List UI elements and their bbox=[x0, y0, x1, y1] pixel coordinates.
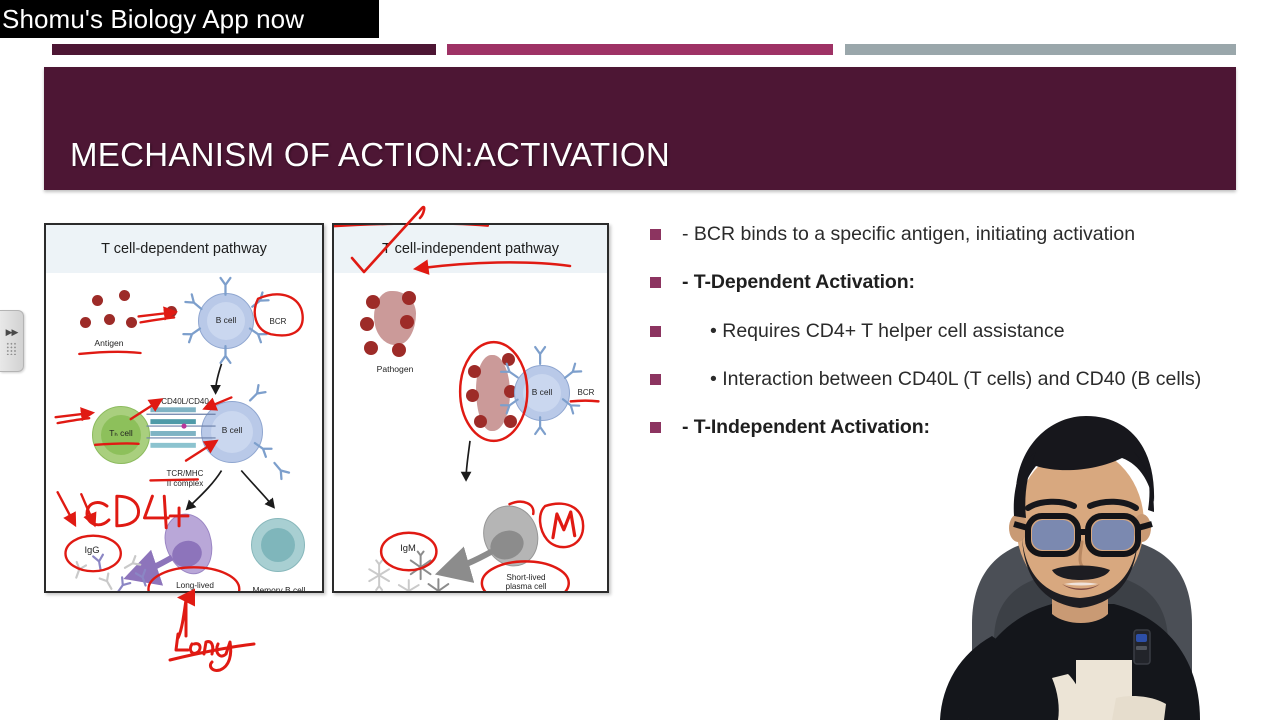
antigen-dot bbox=[104, 314, 115, 325]
antigen-dot bbox=[119, 290, 130, 301]
slide-title-banner: MECHANISM OF ACTION:ACTIVATION bbox=[44, 67, 1236, 190]
figure-left-body: Antigen B cell BCR Tₕ cell B cell CD40L/… bbox=[46, 273, 322, 591]
pathogen-bound-epitope bbox=[504, 415, 517, 428]
presenter-illustration bbox=[876, 392, 1280, 720]
decor-bar-2 bbox=[447, 44, 833, 55]
decor-bar-1 bbox=[52, 44, 436, 55]
bullet-item-1: - BCR binds to a specific antigen, initi… bbox=[648, 220, 1223, 248]
antigen-dot bbox=[126, 317, 137, 328]
th-cell-label: Tₕ cell bbox=[98, 429, 144, 439]
bullet-item-4: • Interaction between CD40L (T cells) an… bbox=[648, 365, 1223, 393]
presenter-video-cutout bbox=[876, 392, 1280, 720]
pathogen-epitope bbox=[400, 315, 414, 329]
figure-right-header: T cell-independent pathway bbox=[334, 225, 607, 273]
decor-bar-3 bbox=[845, 44, 1236, 55]
pathogen-bound-epitope bbox=[466, 389, 479, 402]
pathogen-epitope bbox=[392, 343, 406, 357]
tcr-mhc-label-line1: TCR/MHC bbox=[150, 469, 220, 478]
short-lived-line1: Short-lived bbox=[506, 573, 545, 582]
b-cell-right-label: B cell bbox=[522, 388, 562, 398]
memory-b-cell-label: Memory B cell bbox=[240, 586, 318, 593]
long-lived-line1: Long-lived bbox=[176, 581, 214, 590]
pathogen-epitope bbox=[366, 295, 380, 309]
bullet-item-2: - T-Dependent Activation: bbox=[648, 268, 1223, 296]
pathogen-bound-epitope bbox=[474, 415, 487, 428]
cd40-label: CD40L/CD40 bbox=[142, 397, 228, 406]
b-cell-top-label: B cell bbox=[206, 316, 246, 326]
app-promo-banner: Shomu's Biology App now bbox=[0, 0, 379, 38]
bcr-label: BCR bbox=[264, 317, 292, 326]
pathogen-label: Pathogen bbox=[360, 365, 430, 375]
bullet-item-3: • Requires CD4+ T helper cell assistance bbox=[648, 317, 1223, 345]
long-lived-line2: plasma cell bbox=[175, 590, 216, 593]
b-cell-mid-label: B cell bbox=[210, 426, 254, 436]
chevron-right-double-icon: ▶▶ bbox=[6, 328, 18, 337]
grip-dots-icon bbox=[6, 342, 17, 355]
page-title: MECHANISM OF ACTION:ACTIVATION bbox=[70, 136, 670, 174]
antigen-label: Antigen bbox=[78, 339, 140, 349]
slide-canvas: Shomu's Biology App now MECHANISM OF ACT… bbox=[0, 0, 1280, 720]
short-lived-plasma-cell-label: Short-lived plasma cell bbox=[486, 573, 566, 592]
memory-b-cell-nucleus bbox=[261, 528, 295, 562]
panel-expander-button[interactable]: ▶▶ bbox=[0, 310, 24, 372]
antigen-dot bbox=[92, 295, 103, 306]
pathogen-epitope bbox=[364, 341, 378, 355]
figure-left-header: T cell-dependent pathway bbox=[46, 225, 322, 273]
igg-label: IgG bbox=[76, 545, 108, 556]
tcr-mhc-label-line2: II complex bbox=[150, 479, 220, 488]
figure-panel-t-independent: T cell-independent pathway Pathogen B ce… bbox=[332, 223, 609, 593]
figure-left-header-text: T cell-dependent pathway bbox=[101, 241, 267, 257]
m-handwriting bbox=[553, 512, 575, 538]
pathogen-bound-epitope bbox=[468, 365, 481, 378]
bound-antigen-dot bbox=[166, 306, 177, 317]
figure-right-header-text: T cell-independent pathway bbox=[382, 241, 559, 257]
long-handwriting-annotation bbox=[150, 588, 310, 678]
pathogen-epitope bbox=[402, 291, 416, 305]
figure-panel-t-dependent: T cell-dependent pathway Antigen B cell … bbox=[44, 223, 324, 593]
long-lived-plasma-cell-label: Long-lived plasma cell bbox=[156, 581, 234, 593]
short-lived-line2: plasma cell bbox=[506, 582, 547, 591]
igm-label: IgM bbox=[392, 543, 424, 554]
pathogen-bound-epitope bbox=[502, 353, 515, 366]
bcr-right-label: BCR bbox=[572, 388, 600, 397]
pathogen-epitope bbox=[360, 317, 374, 331]
figure-right-body: Pathogen B cell BCR Short-lived plasma c… bbox=[334, 273, 607, 591]
antigen-dot bbox=[80, 317, 91, 328]
